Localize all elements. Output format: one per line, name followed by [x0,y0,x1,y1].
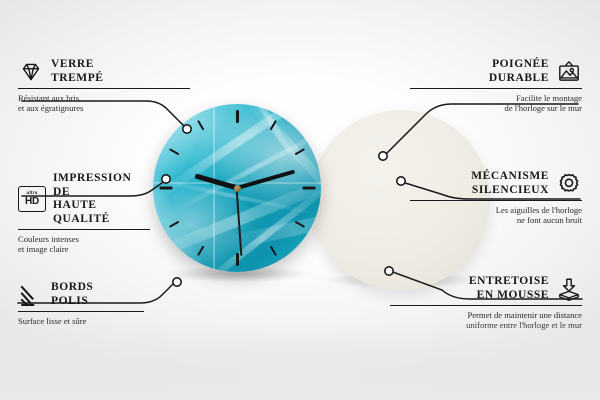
gear-icon [556,171,582,197]
feature-description: Facilite le montage de l'horloge sur le … [410,93,582,114]
feature-divider [410,200,582,201]
feature-description: Les aiguilles de l'horloge ne font aucun… [410,205,582,226]
foam-spacer-icon [556,276,582,302]
feature-bords-polis: BORDS POLIS Surface lisse et sûre [18,281,144,326]
infographic-canvas: VERRE TREMPÉ Résistant aux bris et aux é… [0,0,600,400]
feature-verre-trempe: VERRE TREMPÉ Résistant aux bris et aux é… [18,58,190,114]
polished-edges-icon [18,282,44,308]
feature-title: MÉCANISME SILENCIEUX [471,170,549,197]
feature-description: Surface lisse et sûre [18,316,144,327]
feature-heading: POIGNÉE DURABLE [410,58,582,85]
feature-description: Couleurs intenses et image claire [18,234,150,255]
feature-heading: MÉCANISME SILENCIEUX [410,170,582,197]
feature-title: POIGNÉE DURABLE [489,58,549,85]
clock-front-view [153,104,321,272]
feature-divider [18,229,150,230]
feature-heading: BORDS POLIS [18,281,144,308]
feature-mecanisme-silencieux: MÉCANISME SILENCIEUX Les aiguilles de l'… [410,170,582,226]
picture-frame-hanger-icon [556,59,582,85]
clock-tick [236,253,239,266]
feature-poignee-durable: POIGNÉE DURABLE Facilite le montage de l… [410,58,582,114]
feature-entretoise-en-mousse: ENTRETOISE EN MOUSSE Permet de maintenir… [390,275,582,331]
clock-tick [302,187,315,190]
feature-heading: ultra HD IMPRESSION DE HAUTE QUALITÉ [18,172,150,226]
feature-heading: ENTRETOISE EN MOUSSE [390,275,582,302]
clock-tick [236,110,239,123]
feature-divider [18,88,190,89]
ultra-hd-icon: ultra HD [18,186,46,212]
feature-title: ENTRETOISE EN MOUSSE [469,275,549,302]
feature-divider [390,305,582,306]
diamond-icon [18,59,44,85]
clock-hand-hub [234,185,241,192]
feature-description: Permet de maintenir une distance uniform… [390,310,582,331]
feature-divider [410,88,582,89]
feature-description: Résistant aux bris et aux égratignures [18,93,190,114]
feature-impression-haute-qualite: ultra HD IMPRESSION DE HAUTE QUALITÉ Cou… [18,172,150,255]
feature-title: IMPRESSION DE HAUTE QUALITÉ [53,172,150,226]
feature-heading: VERRE TREMPÉ [18,58,190,85]
feature-title: VERRE TREMPÉ [51,58,104,85]
clock-tick [159,187,172,190]
ultra-hd-icon-bottom: HD [25,197,39,207]
feature-divider [18,311,144,312]
feature-title: BORDS POLIS [51,281,93,308]
